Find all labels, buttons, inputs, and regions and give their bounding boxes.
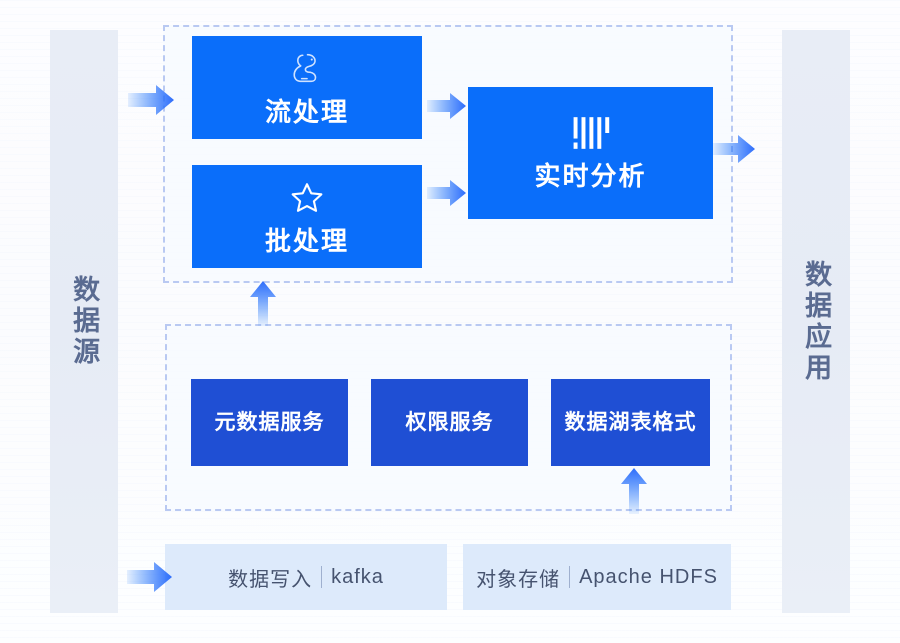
rail-data-source-label: 数据源	[69, 275, 99, 368]
arrow-batch-to-realtime-icon	[426, 176, 468, 210]
arrow-platform-to-compute-icon	[246, 280, 280, 328]
architecture-diagram: 数据源 数据应用 流处理 批处理	[0, 0, 900, 643]
arrow-source-to-ingest-icon	[126, 558, 174, 596]
card-stream-processing-label: 流处理	[265, 99, 349, 125]
spark-star-icon	[290, 180, 324, 214]
card-metadata-service-label: 元数据服务	[215, 412, 325, 433]
bar-object-storage-text: 对象存储 Apache HDFS	[476, 563, 718, 592]
arrow-storage-to-platform-icon	[617, 466, 651, 516]
card-data-lake-table-format-label: 数据湖表格式	[565, 412, 697, 433]
clickhouse-bars-icon	[572, 117, 610, 149]
card-realtime-analysis[interactable]: 实时分析	[468, 87, 713, 219]
card-permission-service-label: 权限服务	[406, 412, 494, 433]
arrow-stream-to-realtime-icon	[426, 89, 468, 123]
flink-squirrel-icon	[290, 51, 324, 85]
card-permission-service[interactable]: 权限服务	[371, 379, 528, 466]
bar-data-ingestion-label: 数据写入	[228, 563, 312, 592]
card-realtime-analysis-label: 实时分析	[534, 163, 646, 189]
rail-data-source: 数据源	[50, 30, 118, 613]
card-metadata-service[interactable]: 元数据服务	[191, 379, 348, 466]
bar-data-ingestion-tech: kafka	[331, 566, 384, 589]
arrow-source-to-compute-icon	[126, 80, 178, 120]
rail-data-application: 数据应用	[782, 30, 850, 613]
bar-separator	[321, 566, 322, 588]
card-data-lake-table-format[interactable]: 数据湖表格式	[551, 379, 710, 466]
bar-separator	[569, 566, 570, 588]
rail-data-application-label: 数据应用	[801, 260, 831, 384]
bar-object-storage-label: 对象存储	[476, 563, 560, 592]
arrow-realtime-to-apps-icon	[712, 131, 757, 167]
card-stream-processing[interactable]: 流处理	[192, 36, 422, 139]
card-batch-processing[interactable]: 批处理	[192, 165, 422, 268]
bar-object-storage[interactable]: 对象存储 Apache HDFS	[463, 544, 731, 610]
card-batch-processing-label: 批处理	[265, 228, 349, 254]
bar-object-storage-tech: Apache HDFS	[579, 566, 718, 589]
bar-data-ingestion-text: 数据写入 kafka	[228, 563, 384, 592]
bar-data-ingestion[interactable]: 数据写入 kafka	[165, 544, 447, 610]
